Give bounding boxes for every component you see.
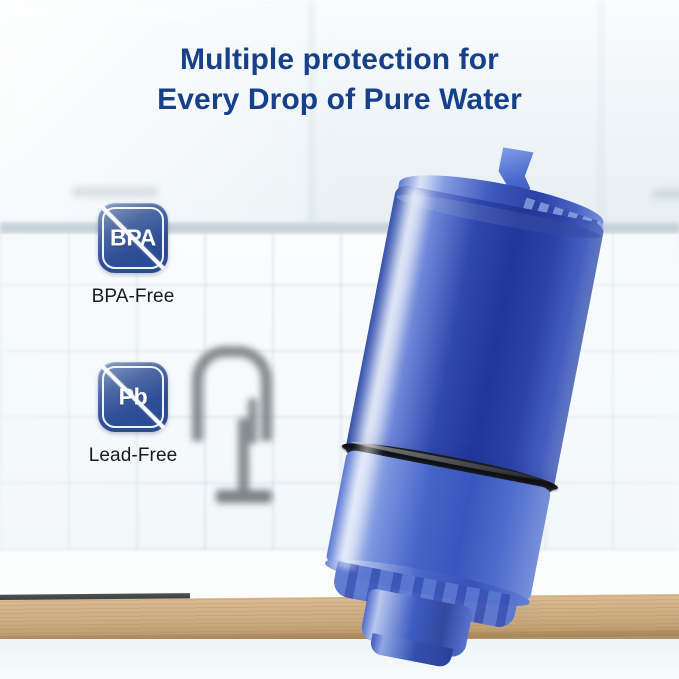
cabinet-handle — [72, 188, 158, 196]
feature-lead-free: Pb Lead-Free — [43, 362, 223, 467]
feature-bpa-free: BPA BPA-Free — [43, 203, 223, 308]
headline-line-2: Every Drop of Pure Water — [0, 80, 679, 120]
feature-caption: Lead-Free — [43, 445, 223, 467]
faucet-base — [216, 490, 272, 503]
bpa-prohibited-icon: BPA — [98, 203, 168, 273]
page-title: Multiple protection for Every Drop of Pu… — [0, 40, 679, 119]
product-marketing-image: Multiple protection for Every Drop of Pu… — [0, 0, 679, 679]
faucet-handle — [248, 398, 257, 444]
headline-line-1: Multiple protection for — [180, 43, 499, 76]
feature-caption: BPA-Free — [43, 286, 223, 308]
lead-prohibited-icon: Pb — [98, 362, 168, 432]
